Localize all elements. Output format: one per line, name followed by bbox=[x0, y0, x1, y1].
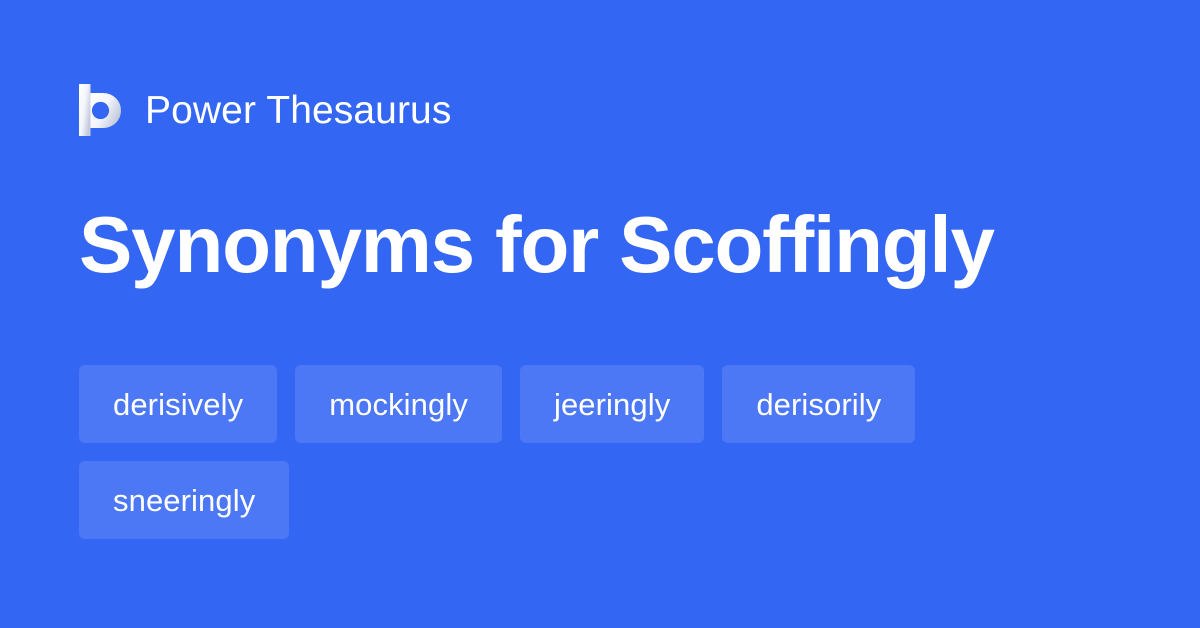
brand-name: power thesaurus bbox=[145, 91, 451, 130]
synonym-chip[interactable]: sneeringly bbox=[79, 461, 289, 539]
power-thesaurus-b-logo-icon bbox=[79, 84, 123, 136]
synonym-chip[interactable]: jeeringly bbox=[520, 365, 704, 443]
synonyms-share-card: power thesaurus Synonyms for Scoffingly … bbox=[0, 0, 1200, 628]
page-title: Synonyms for Scoffingly bbox=[79, 199, 994, 291]
synonym-chip-list: derisively mockingly jeeringly derisoril… bbox=[79, 365, 1129, 539]
synonym-chip[interactable]: derisively bbox=[79, 365, 277, 443]
synonym-chip[interactable]: mockingly bbox=[295, 365, 502, 443]
brand-lockup[interactable]: power thesaurus bbox=[79, 80, 451, 140]
synonym-chip[interactable]: derisorily bbox=[722, 365, 915, 443]
